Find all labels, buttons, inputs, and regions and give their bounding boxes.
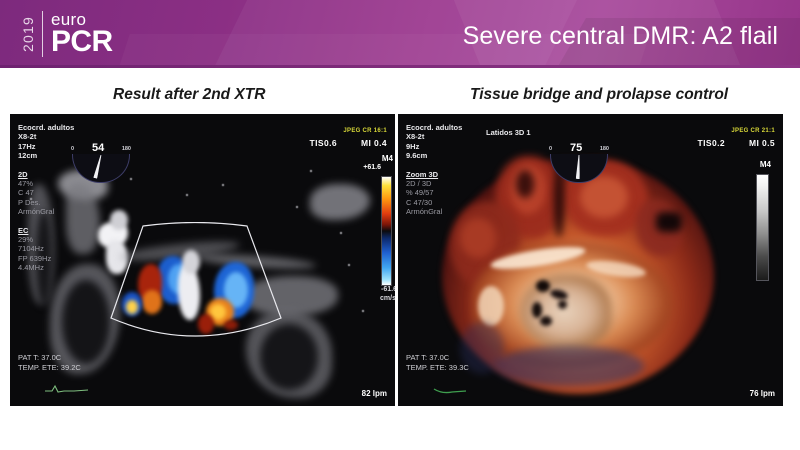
gauge-needle [576, 155, 581, 179]
grayscale-colorbar [756, 174, 769, 281]
logo-divider [42, 11, 43, 57]
mode-param: 47% [18, 179, 74, 188]
preset-label: Ecocrd. adultos [406, 123, 462, 132]
doppler-scale-min: -61.6 [381, 286, 395, 293]
logo-year: 2019 [18, 9, 36, 59]
caption-left: Result after 2nd XTR [113, 86, 265, 104]
depth-label: 9.6cm [406, 151, 462, 160]
mode-param: ArmónGral [406, 207, 462, 216]
jpeg-compression-label: JPEG CR 21:1 [731, 127, 775, 136]
mode-param: 2D / 3D [406, 179, 462, 188]
header-underline [0, 65, 800, 68]
mode-param: C 47/30 [406, 198, 462, 207]
gauge-min-label: 0 [549, 146, 552, 152]
slide-header: 2019 euro PCR Severe central DMR: A2 fla… [0, 0, 800, 68]
doppler-scale-unit: cm/s [380, 295, 395, 302]
echo-image-left: Ecocrd. adultos X8-2t 17Hz 12cm 2D 47% C… [10, 114, 395, 406]
europcr-logo: 2019 euro PCR [18, 9, 113, 59]
patient-temp-label: PAT T: 37.0C [406, 353, 469, 363]
gauge-value-label: 54 [92, 142, 104, 154]
mi-label: MI 0.5 [749, 138, 775, 148]
doppler-param: FP 639Hz [18, 254, 74, 263]
probe-label: X8-2t [406, 132, 462, 141]
probe-temp-label: TEMP. ETE: 39.2C [18, 363, 81, 373]
gauge-max-label: 180 [600, 146, 609, 152]
ecg-trace-left [44, 382, 90, 394]
echo-left-params: Ecocrd. adultos X8-2t 17Hz 12cm 2D 47% C… [18, 123, 74, 273]
tis-label: TIS0.6 [310, 138, 337, 148]
orientation-gauge-right: 0 75 180 [550, 154, 606, 184]
gauge-value-label: 75 [570, 142, 582, 154]
slide: 2019 euro PCR Severe central DMR: A2 fla… [0, 0, 800, 450]
gauge-dial [72, 154, 130, 183]
framerate-label: 9Hz [406, 142, 462, 151]
logo-wordmark: euro PCR [51, 9, 113, 59]
heart-rate-label: 76 lpm [750, 389, 775, 398]
doppler-sector-box [105, 222, 285, 346]
doppler-scale-max: +61.6 [363, 164, 381, 171]
doppler-param: 29% [18, 235, 74, 244]
patient-temp-label: PAT T: 37.0C [18, 353, 81, 363]
logo-pcr-text: PCR [51, 28, 113, 56]
probe-label: X8-2t [18, 132, 74, 141]
echo-right-temps: PAT T: 37.0C TEMP. ETE: 39.3C [406, 353, 469, 372]
mode-param: C 47 [18, 188, 74, 197]
doppler-param: 7104Hz [18, 244, 74, 253]
mode-zoom3d-label: Zoom 3D [406, 170, 462, 179]
mode-param: ArmónGral [18, 207, 74, 216]
caption-right: Tissue bridge and prolapse control [470, 86, 728, 104]
framerate-label: 17Hz [18, 142, 74, 151]
mode-color-label: EC [18, 226, 74, 235]
doppler-colorbar [381, 176, 392, 286]
mode-2d-label: 2D [18, 170, 74, 179]
doppler-param: 4.4MHz [18, 263, 74, 272]
jpeg-compression-label: JPEG CR 16:1 [343, 127, 387, 136]
mode-param: P Des. [18, 198, 74, 207]
preset-label: Ecocrd. adultos [18, 123, 74, 132]
gauge-max-label: 180 [122, 146, 131, 152]
mode-param: % 49/57 [406, 188, 462, 197]
gauge-needle [93, 155, 103, 179]
ecg-trace-right [432, 382, 478, 394]
tis-label: TIS0.2 [698, 138, 725, 148]
colormap-label: M4 [382, 154, 393, 163]
heart-rate-label: 82 lpm [362, 389, 387, 398]
gauge-min-label: 0 [71, 146, 74, 152]
probe-temp-label: TEMP. ETE: 39.3C [406, 363, 469, 373]
mi-label: MI 0.4 [361, 138, 387, 148]
colormap-label: M4 [760, 160, 771, 169]
page-title: Severe central DMR: A2 flail [463, 22, 778, 51]
orientation-gauge-left: 0 54 180 [72, 154, 128, 184]
gauge-dial [550, 154, 608, 183]
beats-3d-label: Latidos 3D 1 [486, 128, 531, 137]
echo-right-params: Ecocrd. adultos X8-2t 9Hz 9.6cm Zoom 3D … [406, 123, 462, 217]
echo-image-right: Ecocrd. adultos X8-2t 9Hz 9.6cm Zoom 3D … [398, 114, 783, 406]
depth-label: 12cm [18, 151, 74, 160]
echo-left-temps: PAT T: 37.0C TEMP. ETE: 39.2C [18, 353, 81, 372]
